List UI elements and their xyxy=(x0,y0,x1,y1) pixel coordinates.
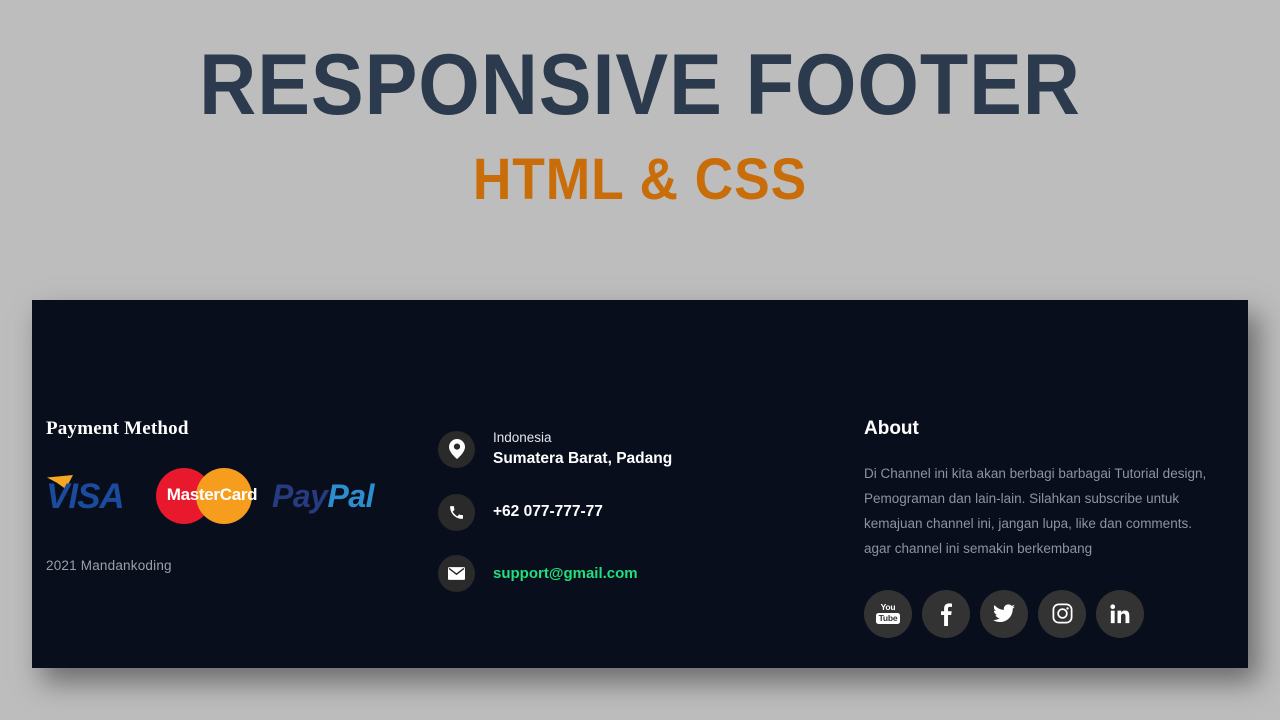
contact-address-row[interactable]: Indonesia Sumatera Barat, Padang xyxy=(438,428,838,470)
contact-phone-number: +62 077-777-77 xyxy=(493,501,603,523)
youtube-mark: You Tube xyxy=(875,602,901,626)
contact-city: Sumatera Barat, Padang xyxy=(493,448,672,470)
contact-phone-text: +62 077-777-77 xyxy=(493,501,603,523)
payment-method-heading: Payment Method xyxy=(46,418,406,440)
instagram-icon[interactable] xyxy=(1038,590,1086,638)
about-column: About Di Channel ini kita akan berbagi b… xyxy=(864,418,1234,638)
location-pin-icon xyxy=(438,431,475,468)
envelope-icon xyxy=(438,555,475,592)
linkedin-icon[interactable] xyxy=(1096,590,1144,638)
contact-phone-row[interactable]: +62 077-777-77 xyxy=(438,494,838,531)
page-title: RESPONSIVE FOOTER xyxy=(51,40,1229,130)
footer-columns: Payment Method VISA MasterCard PayPal 20… xyxy=(32,300,1248,668)
payment-method-column: Payment Method VISA MasterCard PayPal 20… xyxy=(46,418,406,573)
footer-panel: Payment Method VISA MasterCard PayPal 20… xyxy=(32,300,1248,668)
youtube-you-text: You xyxy=(881,603,896,612)
contact-country: Indonesia xyxy=(493,428,672,448)
contact-email-text: support@gmail.com xyxy=(493,563,638,585)
youtube-icon[interactable]: You Tube xyxy=(864,590,912,638)
visa-logo[interactable]: VISA xyxy=(46,473,158,519)
about-description: Di Channel ini kita akan berbagi barbaga… xyxy=(864,462,1214,562)
mastercard-logo[interactable]: MasterCard xyxy=(156,468,268,524)
phone-icon xyxy=(438,494,475,531)
paypal-label-part2: Pal xyxy=(327,478,374,514)
contact-address-text: Indonesia Sumatera Barat, Padang xyxy=(493,428,672,470)
paypal-logo[interactable]: PayPal xyxy=(272,480,374,512)
payment-logo-row: VISA MasterCard PayPal xyxy=(46,468,406,524)
paypal-label-part1: Pay xyxy=(272,478,327,514)
youtube-tube-text: Tube xyxy=(876,613,901,625)
contact-email-row[interactable]: support@gmail.com xyxy=(438,555,838,592)
facebook-icon[interactable] xyxy=(922,590,970,638)
page-subtitle: HTML & CSS xyxy=(51,148,1229,212)
about-heading: About xyxy=(864,418,1234,440)
visa-label: VISA xyxy=(46,479,124,514)
contact-column: Indonesia Sumatera Barat, Padang +62 077… xyxy=(438,428,838,592)
title-area: RESPONSIVE FOOTER HTML & CSS xyxy=(0,40,1280,212)
contact-email-address[interactable]: support@gmail.com xyxy=(493,563,638,585)
mastercard-label: MasterCard xyxy=(156,486,268,503)
twitter-icon[interactable] xyxy=(980,590,1028,638)
social-links-row: You Tube xyxy=(864,590,1234,638)
copyright-text: 2021 Mandankoding xyxy=(46,558,406,573)
